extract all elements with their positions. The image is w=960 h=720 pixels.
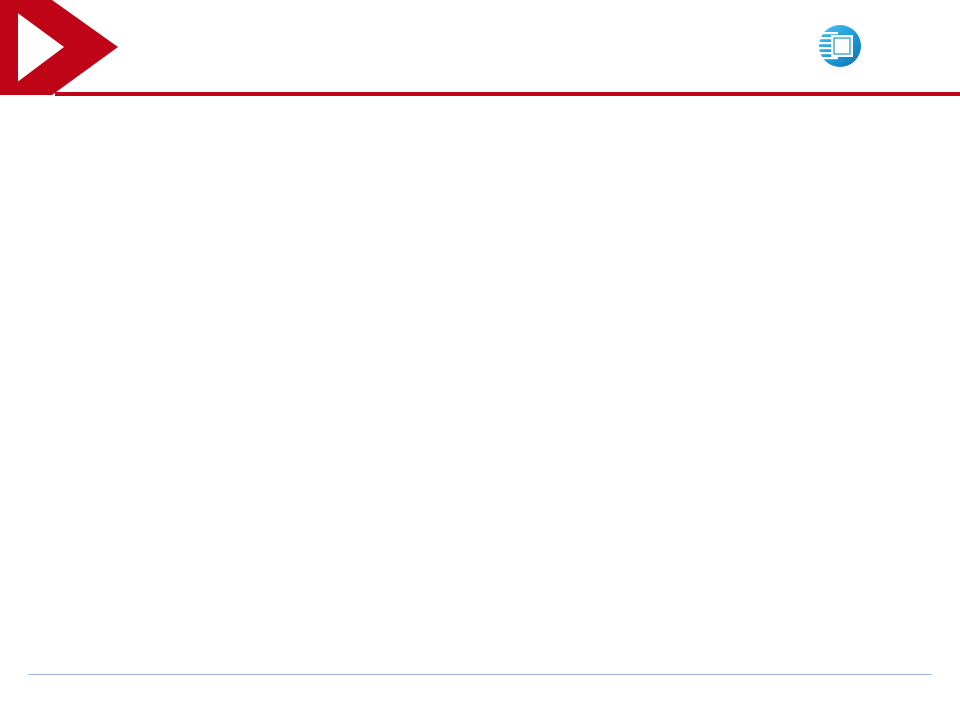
header-chevron-icon — [0, 0, 120, 95]
header-rule — [55, 92, 960, 96]
slide-footer — [0, 674, 960, 720]
footer-divider — [28, 674, 932, 675]
sws-research-logo — [812, 18, 942, 78]
slide — [0, 0, 960, 720]
slide-header — [0, 0, 960, 100]
chart-grid — [0, 104, 960, 674]
sws-logo-mark-icon — [812, 20, 864, 72]
